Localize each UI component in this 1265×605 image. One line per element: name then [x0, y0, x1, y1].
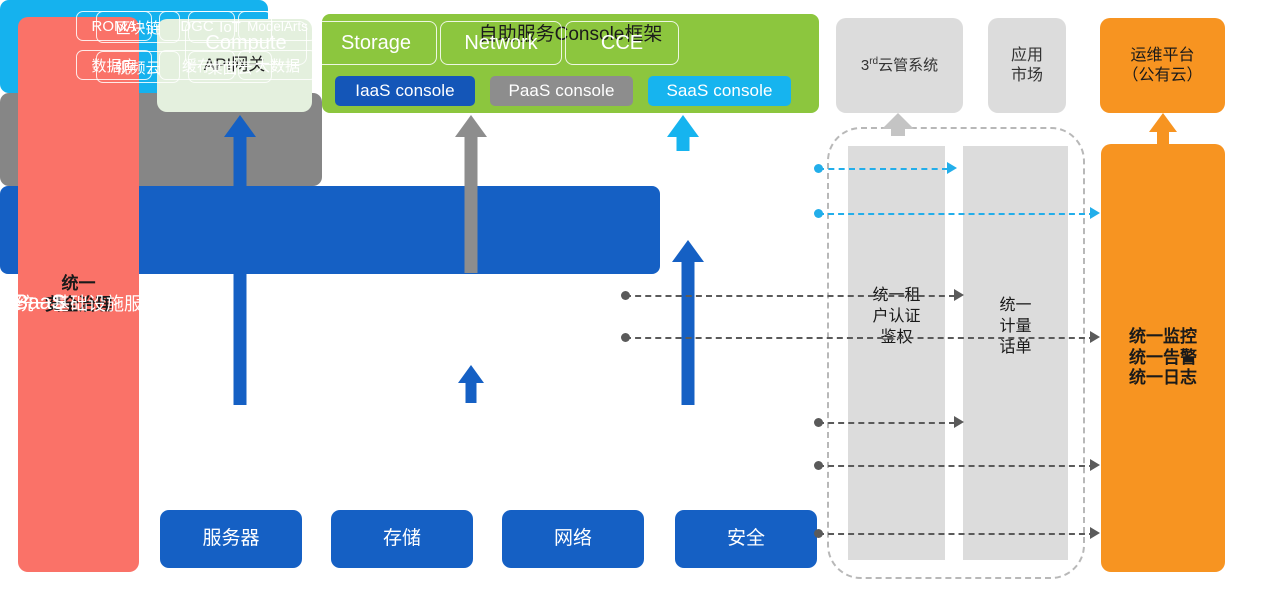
hardware-storage-box[interactable]: 存储: [331, 510, 473, 568]
paas-console-chip[interactable]: PaaS console: [490, 76, 633, 106]
ops-top-text: 运维平台 （公有云）: [1122, 46, 1202, 85]
hardware-network-box[interactable]: 网络: [502, 510, 644, 568]
paas-service-roma-label: ROMA: [92, 18, 137, 35]
ops-panel-text: 统一监控 统一告警 统一日志: [1129, 327, 1197, 389]
third-party-suffix: 云管系统: [878, 57, 938, 74]
arrow-saas-to-console: [667, 115, 699, 151]
arrowhead-hardware-to-ops: [1090, 527, 1100, 539]
unified-tenant-auth-column: 统一租 户认证 鉴权: [848, 146, 945, 560]
arrowhead-iaas-to-ops: [1090, 459, 1100, 471]
iaas-service-network-label: Network: [464, 32, 537, 55]
app-market-line-1: 应用: [1011, 46, 1043, 66]
arrow-shared-services-to-third-party: [882, 113, 914, 135]
ops-platform-public-cloud-box: 运维平台 （公有云）: [1100, 18, 1225, 113]
iaas-service-cce[interactable]: CCE: [565, 21, 679, 65]
hardware-storage-label: 存储: [383, 527, 421, 550]
dashed-line-paas-to-ops: [625, 337, 1095, 339]
app-market-text: 应用 市场: [1011, 46, 1043, 85]
app-market-line-2: 市场: [1011, 66, 1043, 86]
iaas-console-label: IaaS console: [355, 81, 455, 102]
meter-line-3: 话单: [963, 338, 1068, 359]
arrowhead-saas-to-ops: [1090, 207, 1100, 219]
dashed-line-saas-to-auth: [818, 168, 948, 170]
paas-console-label: PaaS console: [508, 81, 614, 102]
unified-metering-billing-label: 统一 计量 话单: [963, 296, 1068, 358]
hardware-server-box[interactable]: 服务器: [160, 510, 302, 568]
saas-console-label: SaaS console: [666, 81, 772, 102]
hardware-server-label: 服务器: [202, 527, 259, 550]
third-party-prefix: 3: [861, 57, 869, 74]
iaas-console-chip[interactable]: IaaS console: [335, 76, 475, 106]
iaas-service-compute[interactable]: Compute: [185, 21, 307, 65]
arrowhead-iaas-to-auth: [954, 416, 964, 428]
dashed-line-saas-to-ops: [818, 213, 1095, 215]
arrowhead-saas-to-auth: [947, 162, 957, 174]
arrow-iaas-to-api-gateway: [224, 115, 256, 405]
iaas-service-storage[interactable]: Storage: [315, 21, 437, 65]
hardware-security-label: 安全: [727, 527, 765, 550]
iaas-service-cce-label: CCE: [601, 32, 643, 55]
dashed-line-hardware-to-ops: [818, 533, 1095, 535]
ops-panel-line-3: 统一日志: [1129, 368, 1197, 389]
third-party-superscript: rd: [869, 56, 878, 67]
dashed-line-iaas-to-ops: [818, 465, 1095, 467]
ops-top-line-1: 运维平台: [1122, 46, 1202, 66]
third-party-label: 3rd云管系统: [861, 56, 938, 75]
paas-service-database[interactable]: 数据库: [76, 50, 152, 80]
meter-line-1: 统一: [963, 296, 1068, 317]
architecture-diagram: 统一 安全治理 API网关 自助服务Console框架 IaaS console…: [0, 0, 1265, 605]
arrowhead-paas-to-meter: [954, 289, 964, 301]
iaas-service-network[interactable]: Network: [440, 21, 562, 65]
saas-console-chip[interactable]: SaaS console: [648, 76, 791, 106]
paas-service-roma[interactable]: ROMA: [76, 11, 152, 41]
unified-metering-billing-column: 统一 计量 话单: [963, 146, 1068, 560]
hardware-network-label: 网络: [554, 527, 592, 550]
arrow-ops-panel-to-ops-top: [1147, 113, 1179, 147]
dashed-line-iaas-to-auth: [818, 422, 955, 424]
unified-monitoring-panel: 统一监控 统一告警 统一日志: [1101, 144, 1225, 572]
hardware-security-box[interactable]: 安全: [675, 510, 817, 568]
iaas-service-storage-label: Storage: [341, 32, 411, 55]
third-party-cloud-management-box: 3rd云管系统: [836, 18, 963, 113]
arrow-iaas-to-paas: [458, 365, 484, 403]
arrowhead-paas-to-ops: [1090, 331, 1100, 343]
iaas-layer-label: 统一基础设施服务: [16, 290, 160, 316]
ops-panel-line-1: 统一监控: [1129, 327, 1197, 348]
auth-line-2: 户认证: [848, 307, 945, 328]
arrow-paas-to-console: [455, 115, 487, 273]
app-market-box: 应用 市场: [988, 18, 1066, 113]
ops-panel-line-2: 统一告警: [1129, 348, 1197, 369]
arrow-iaas-to-saas: [672, 240, 704, 405]
meter-line-2: 计量: [963, 317, 1068, 338]
iaas-service-compute-label: Compute: [205, 32, 286, 55]
ops-top-line-2: （公有云）: [1122, 66, 1202, 86]
dashed-line-paas-to-meter: [625, 295, 955, 297]
paas-service-database-label: 数据库: [91, 55, 136, 76]
